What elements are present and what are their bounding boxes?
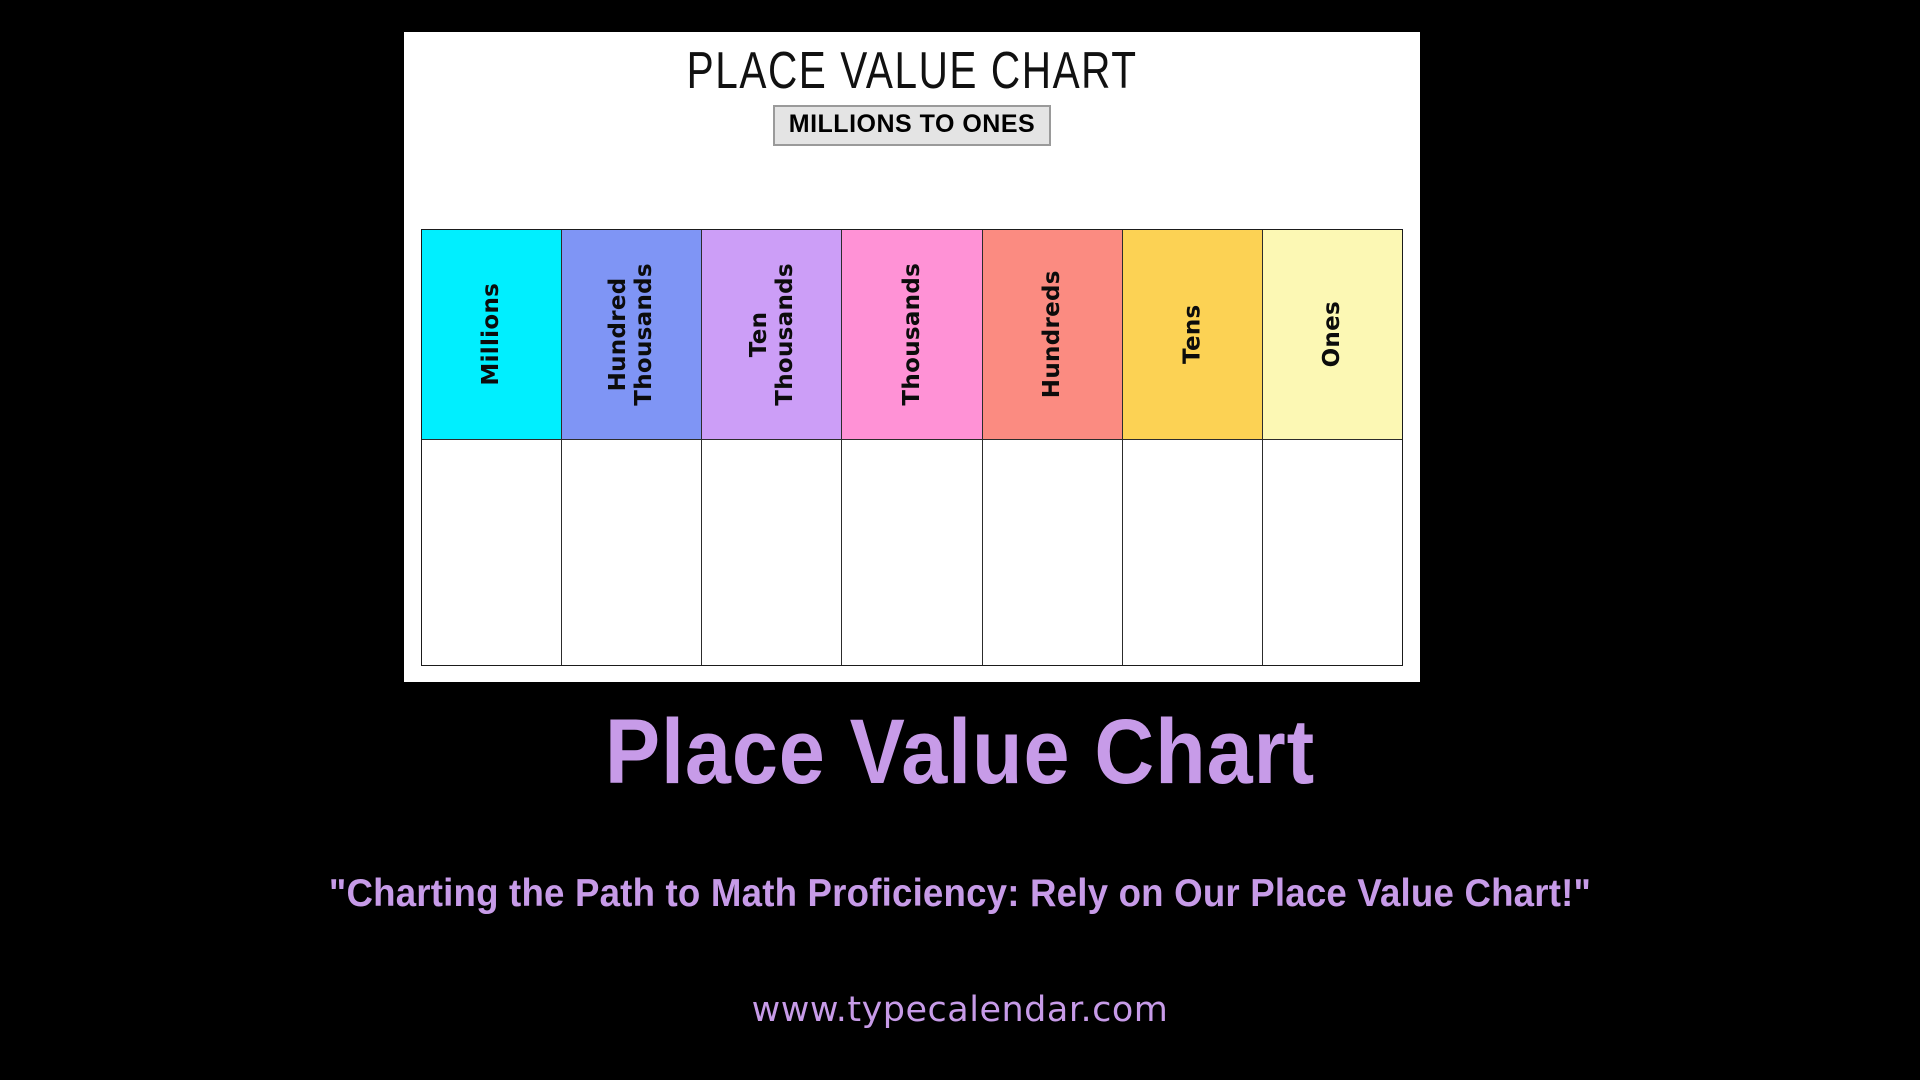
brand-tagline: "Charting the Path to Math Proficiency: … bbox=[58, 872, 1863, 916]
header-label-ten-thousands: Ten Thousands bbox=[745, 263, 798, 406]
entry-cell-hundreds[interactable] bbox=[983, 440, 1123, 665]
header-cell-hundred-thousands: Hundred Thousands bbox=[562, 230, 702, 440]
header-label-ones: Ones bbox=[1319, 301, 1345, 367]
entry-cell-thousands[interactable] bbox=[842, 440, 982, 665]
worksheet-card: PLACE VALUE CHART MILLIONS TO ONES Milli… bbox=[404, 32, 1420, 682]
header-cell-tens: Tens bbox=[1123, 230, 1263, 440]
entry-cell-tens[interactable] bbox=[1123, 440, 1263, 665]
header-cell-ones: Ones bbox=[1263, 230, 1402, 440]
table-row bbox=[422, 440, 1402, 665]
brand-title: Place Value Chart bbox=[96, 700, 1824, 805]
worksheet-title: PLACE VALUE CHART bbox=[686, 44, 1137, 99]
worksheet-subtitle-badge: MILLIONS TO ONES bbox=[773, 105, 1051, 146]
header-label-millions: Millions bbox=[478, 283, 504, 386]
worksheet-subtitle-wrap: MILLIONS TO ONES bbox=[404, 105, 1420, 146]
header-cell-hundreds: Hundreds bbox=[983, 230, 1123, 440]
entry-cell-ones[interactable] bbox=[1263, 440, 1402, 665]
header-label-hundred-thousands: Hundred Thousands bbox=[605, 263, 658, 406]
entry-cell-hundred-thousands[interactable] bbox=[562, 440, 702, 665]
header-cell-millions: Millions bbox=[422, 230, 562, 440]
header-label-hundreds: Hundreds bbox=[1039, 271, 1065, 399]
table-header-row: Millions Hundred Thousands Ten Thousands… bbox=[422, 230, 1402, 440]
header-label-thousands: Thousands bbox=[899, 263, 925, 406]
place-value-table: Millions Hundred Thousands Ten Thousands… bbox=[421, 229, 1403, 666]
header-cell-ten-thousands: Ten Thousands bbox=[702, 230, 842, 440]
entry-cell-ten-thousands[interactable] bbox=[702, 440, 842, 665]
brand-url[interactable]: www.typecalendar.com bbox=[0, 990, 1920, 1030]
entry-cell-millions[interactable] bbox=[422, 440, 562, 665]
header-label-tens: Tens bbox=[1179, 305, 1205, 365]
header-cell-thousands: Thousands bbox=[842, 230, 982, 440]
page-root: PLACE VALUE CHART MILLIONS TO ONES Milli… bbox=[0, 0, 1920, 1080]
